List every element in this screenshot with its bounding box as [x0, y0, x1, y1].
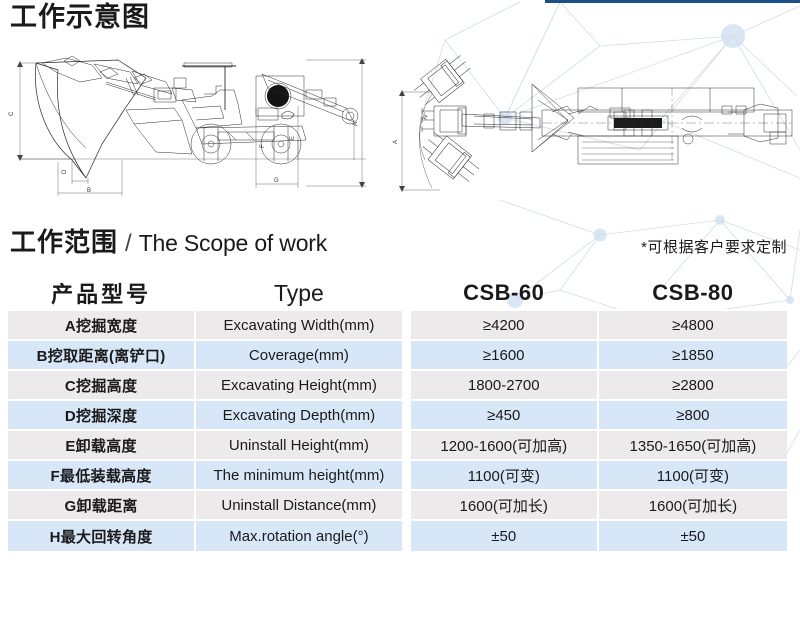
top-accent-bar — [545, 0, 800, 3]
page-title: 工作示意图 — [10, 4, 150, 31]
row-label-en: Excavating Depth(mm) — [196, 401, 410, 431]
row-label-en: Excavating Width(mm) — [196, 311, 410, 341]
table-row: B挖取距离(离铲口) Coverage(mm) ≥1600 ≥1850 — [8, 341, 787, 371]
scope-heading-en: The Scope of work — [139, 230, 327, 257]
row-label-en: Max.rotation angle(°) — [196, 521, 410, 551]
row-value-csb60: ≥1600 — [411, 341, 599, 371]
row-value-csb80: ≥4800 — [599, 311, 787, 341]
row-label-en: Uninstall Height(mm) — [196, 431, 410, 461]
row-value-csb80: ±50 — [599, 521, 787, 551]
top-view-loader-drawing: A H — [392, 48, 794, 200]
row-label-cn: H最大回转角度 — [8, 521, 196, 551]
row-value-csb60: 1100(可变) — [411, 461, 599, 491]
row-value-csb60: 1200-1600(可加高) — [411, 431, 599, 461]
row-label-en: Coverage(mm) — [196, 341, 410, 371]
row-label-cn: A挖掘宽度 — [8, 311, 196, 341]
table-row: C挖掘高度 Excavating Height(mm) 1800-2700 ≥2… — [8, 371, 787, 401]
row-value-csb60: ≥4200 — [411, 311, 599, 341]
dim-label-a: A — [353, 122, 359, 126]
side-view-loader-drawing: C D B F E G A — [6, 48, 378, 200]
header-cell-type: Type — [196, 277, 410, 311]
header-cell-csb80: CSB-80 — [599, 277, 787, 311]
scope-heading-separator: / — [125, 230, 132, 258]
row-label-cn: C挖掘高度 — [8, 371, 196, 401]
dim-label-f: F — [260, 144, 266, 148]
table-row: G卸载距离 Uninstall Distance(mm) 1600(可加长) 1… — [8, 491, 787, 521]
table-row: A挖掘宽度 Excavating Width(mm) ≥4200 ≥4800 — [8, 311, 787, 341]
specification-table: 产品型号 Type CSB-60 CSB-80 A挖掘宽度 Excavating… — [8, 277, 787, 551]
scope-heading-cn: 工作范围 — [10, 222, 118, 259]
row-value-csb60: 1800-2700 — [411, 371, 599, 401]
header-cell-csb60: CSB-60 — [411, 277, 599, 311]
row-label-en: The minimum height(mm) — [196, 461, 410, 491]
customization-note: *可根据客户要求定制 — [641, 236, 787, 257]
dim-label-g: G — [274, 178, 279, 184]
row-value-csb60: ±50 — [411, 521, 599, 551]
dim-label-b: B — [87, 188, 91, 194]
row-value-csb80: ≥800 — [599, 401, 787, 431]
row-label-en: Uninstall Distance(mm) — [196, 491, 410, 521]
row-value-csb80: 1350-1650(可加高) — [599, 431, 787, 461]
row-label-cn: B挖取距离(离铲口) — [8, 341, 196, 371]
dim-label-a-top: A — [393, 140, 399, 144]
table-row: H最大回转角度 Max.rotation angle(°) ±50 ±50 — [8, 521, 787, 551]
row-label-cn: F最低装载高度 — [8, 461, 196, 491]
row-value-csb80: ≥2800 — [599, 371, 787, 401]
row-label-cn: E卸载高度 — [8, 431, 196, 461]
table-header-row: 产品型号 Type CSB-60 CSB-80 — [8, 277, 787, 311]
dim-label-c: C — [9, 111, 15, 116]
row-label-cn: D挖掘深度 — [8, 401, 196, 431]
dim-label-d: D — [62, 169, 68, 174]
dim-label-e: E — [290, 136, 296, 140]
table-row: D挖掘深度 Excavating Depth(mm) ≥450 ≥800 — [8, 401, 787, 431]
row-value-csb80: 1600(可加长) — [599, 491, 787, 521]
table-row: E卸载高度 Uninstall Height(mm) 1200-1600(可加高… — [8, 431, 787, 461]
row-value-csb60: ≥450 — [411, 401, 599, 431]
row-value-csb60: 1600(可加长) — [411, 491, 599, 521]
scope-heading: 工作范围 / The Scope of work — [10, 222, 327, 259]
row-label-cn: G卸载距离 — [8, 491, 196, 521]
row-value-csb80: ≥1850 — [599, 341, 787, 371]
product-spec-page: 工作示意图 工作范围 / The Scope of work *可根据客户要求定… — [0, 0, 800, 618]
row-value-csb80: 1100(可变) — [599, 461, 787, 491]
header-cell-model: 产品型号 — [8, 277, 196, 311]
row-label-en: Excavating Height(mm) — [196, 371, 410, 401]
table-row: F最低装载高度 The minimum height(mm) 1100(可变) … — [8, 461, 787, 491]
